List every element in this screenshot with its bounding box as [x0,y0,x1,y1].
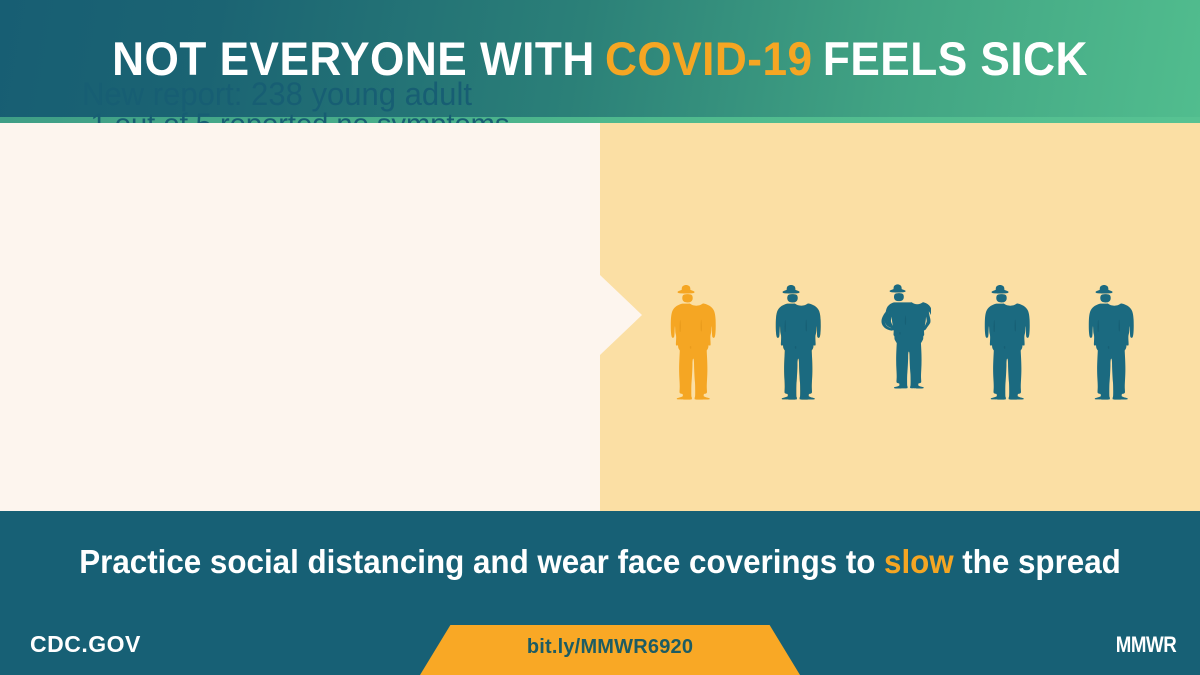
left-panel [0,123,600,511]
page-title-accent: COVID-19 [605,31,813,86]
url-link[interactable]: bit.ly/MMWR6920 [420,625,800,669]
cta-part-2: the spread [962,543,1121,581]
cta-part-1: Practice social distancing and wear face… [79,543,875,581]
service-member-figure-group [660,278,1140,414]
infographic-canvas: NOT EVERYONE WITHCOVID-19FEELS SICK New … [0,0,1200,675]
mmwr-logo: MMWR [1115,632,1176,658]
call-to-action-text: Practice social distancing and wear face… [30,511,1170,613]
service-member-male-icon [974,282,1036,414]
service-member-male-icon [660,282,722,414]
page-title-part-2: FEELS SICK [823,31,1088,86]
service-member-male-icon [765,282,827,414]
service-member-male-icon [1078,282,1140,414]
cta-accent: slow [884,543,954,581]
cdc-gov-logo[interactable]: CDC.GOV [30,631,141,658]
service-member-female-icon [869,282,931,414]
